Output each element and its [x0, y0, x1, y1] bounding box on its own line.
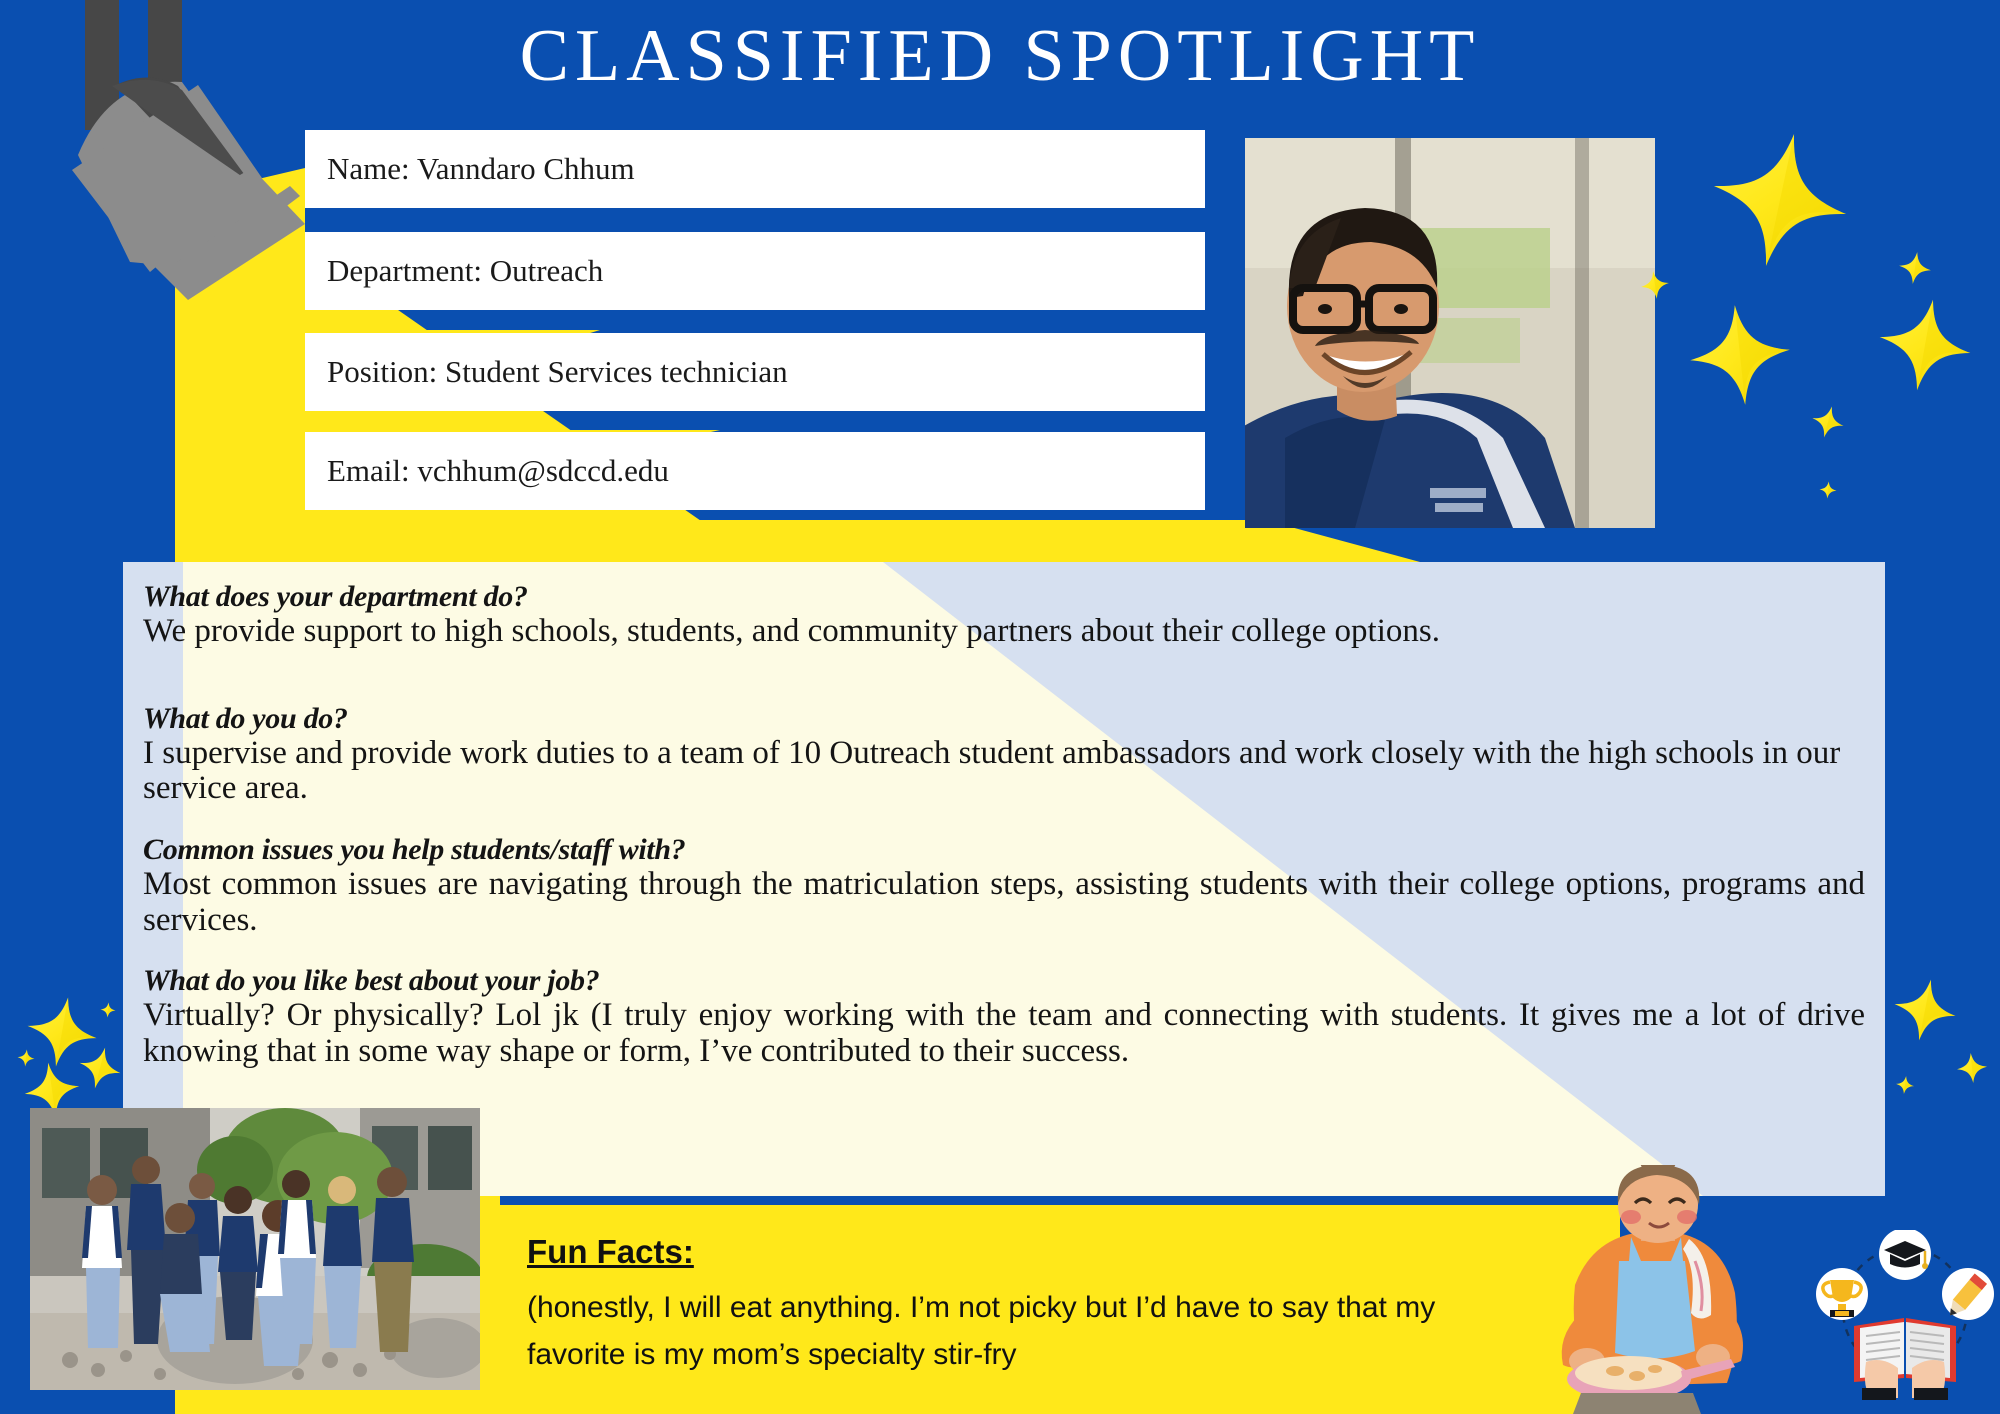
qa-answer: I supervise and provide work duties to a…: [143, 736, 1865, 807]
qa-item: What do you do? I supervise and provide …: [143, 702, 1865, 807]
page-title: CLASSIFIED SPOTLIGHT: [0, 18, 2000, 96]
qa-question: Common issues you help students/staff wi…: [143, 833, 1865, 867]
pencil-icon: [1942, 1268, 1994, 1321]
cooking-person-illustration: [1545, 1165, 1795, 1414]
qa-question: What do you like best about your job?: [143, 964, 1865, 998]
qa-item: Common issues you help students/staff wi…: [143, 833, 1865, 938]
fun-facts-body: (honestly, I will eat anything. I’m not …: [527, 1285, 1527, 1378]
qa-list: What does your department do? We provide…: [143, 580, 1865, 1069]
qa-question: What do you do?: [143, 702, 1865, 736]
spacer: [143, 938, 1865, 964]
poster-canvas: CLASSIFIED SPOTLIGHT Name: Vanndaro Chhu…: [0, 0, 2000, 1414]
info-row-email: Email: vchhum@sdccd.edu: [305, 432, 1205, 510]
spacer: [143, 650, 1865, 702]
qa-question: What does your department do?: [143, 580, 1865, 614]
open-book-icon: [1854, 1318, 1956, 1400]
info-department-text: Department: Outreach: [305, 253, 603, 289]
portrait-photo-illustration: [1245, 138, 1655, 528]
info-name-text: Name: Vanndaro Chhum: [305, 151, 635, 187]
qa-item: What does your department do? We provide…: [143, 580, 1865, 650]
fun-facts-panel: Fun Facts: (honestly, I will eat anythin…: [500, 1205, 1620, 1414]
portrait-photo: [1245, 138, 1655, 528]
education-icons-svg: [1810, 1230, 2000, 1400]
info-email-text: Email: vchhum@sdccd.edu: [305, 453, 669, 489]
spacer: [143, 807, 1865, 833]
qa-answer: We provide support to high schools, stud…: [143, 614, 1865, 650]
info-row-name: Name: Vanndaro Chhum: [305, 130, 1205, 208]
qa-answer: Virtually? Or physically? Lol jk (I trul…: [143, 998, 1865, 1069]
graduation-cap-icon: [1879, 1230, 1931, 1280]
trophy-icon: [1816, 1268, 1868, 1320]
info-position-text: Position: Student Services technician: [305, 354, 788, 390]
info-row-department: Department: Outreach: [305, 232, 1205, 310]
group-photo-illustration: [30, 1108, 480, 1390]
content-panel: What does your department do? We provide…: [123, 562, 1885, 1196]
group-photo: [30, 1108, 480, 1390]
education-icon-cluster: [1810, 1230, 2000, 1400]
info-row-position: Position: Student Services technician: [305, 333, 1205, 411]
qa-answer: Most common issues are navigating throug…: [143, 867, 1865, 938]
qa-item: What do you like best about your job? Vi…: [143, 964, 1865, 1069]
fun-facts-title: Fun Facts:: [527, 1233, 694, 1271]
cooking-illustration-svg: [1545, 1165, 1795, 1414]
